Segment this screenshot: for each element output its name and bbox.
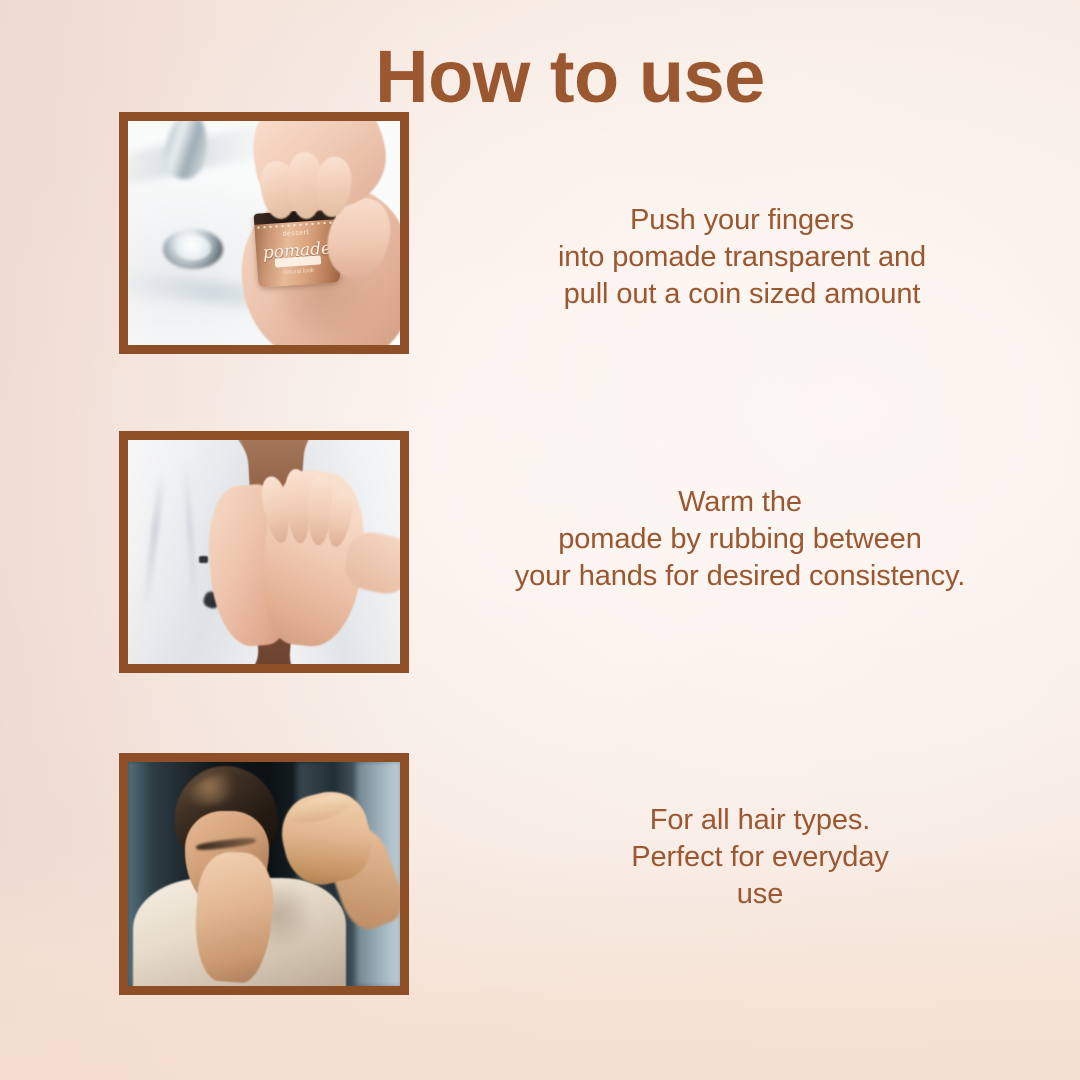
rubbing-hands-photo <box>128 440 400 664</box>
step-3-text: For all hair types. Perfect for everyday… <box>480 802 1040 913</box>
step-2-line-2: pomade by rubbing between <box>440 521 1040 558</box>
step-2-text: Warm the pomade by rubbing between your … <box>440 484 1040 595</box>
step-1-line-1: Push your fingers <box>442 202 1042 239</box>
step-1-line-3: pull out a coin sized amount <box>442 276 1042 313</box>
step-1-photo-frame: dessert pomade natural look <box>119 112 409 354</box>
step-3-line-3: use <box>480 876 1040 913</box>
pomade-jar-photo: dessert pomade natural look <box>128 121 400 345</box>
step-3-line-2: Perfect for everyday <box>480 839 1040 876</box>
shirt-button <box>199 556 209 563</box>
step-3-photo-frame <box>119 753 409 995</box>
step-2-photo-frame <box>119 431 409 673</box>
sink-drain-inner <box>176 236 211 260</box>
jar-brand-text: dessert <box>255 227 337 240</box>
jar-tagline-text: natural look <box>257 265 339 277</box>
page-title: How to use <box>0 40 1080 114</box>
step-3-line-1: For all hair types. <box>480 802 1040 839</box>
styling-hair-photo <box>128 762 400 986</box>
step-1-line-2: into pomade transparent and <box>442 239 1042 276</box>
step-1-text: Push your fingers into pomade transparen… <box>442 202 1042 313</box>
step-2-line-1: Warm the <box>440 484 1040 521</box>
step-2-line-3: your hands for desired consistency. <box>440 558 1040 595</box>
